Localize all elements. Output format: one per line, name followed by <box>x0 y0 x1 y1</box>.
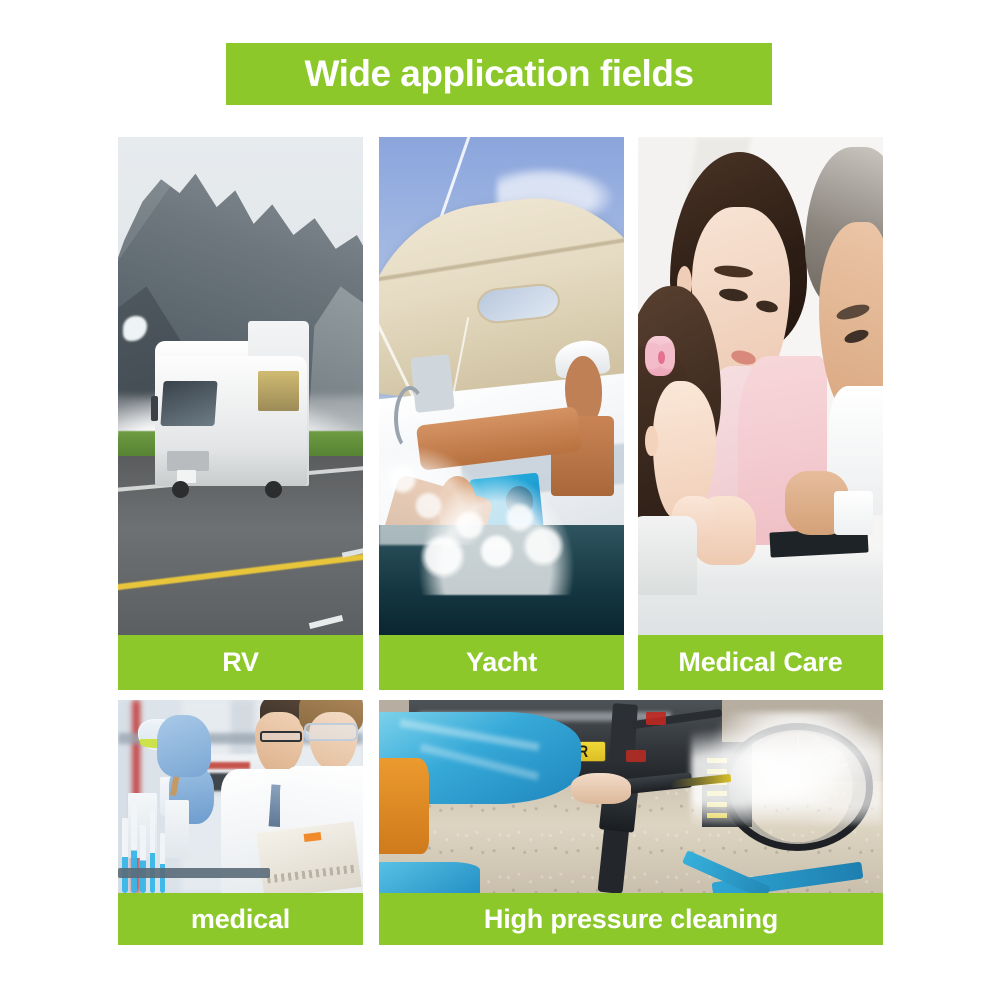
test-tube-rack <box>118 868 270 878</box>
safety-goggles-icon <box>304 723 358 740</box>
white-device <box>638 516 697 596</box>
page-title-banner: Wide application fields <box>226 43 772 105</box>
eyeglasses-icon <box>260 731 302 743</box>
blue-jacket-lower <box>379 862 480 893</box>
motorhome-grille <box>167 451 209 471</box>
family-scene <box>638 137 883 635</box>
shirt-cuff <box>834 491 873 536</box>
yacht-photo <box>379 137 624 635</box>
card-caption-rv: RV <box>118 635 363 690</box>
vehicle-red-light <box>646 712 666 726</box>
test-tube <box>140 825 146 893</box>
application-card-medical[interactable]: medical <box>118 700 363 945</box>
medical-care-photo <box>638 137 883 635</box>
hair-bow-knot <box>658 351 665 364</box>
rv-scene <box>118 137 363 635</box>
test-tube <box>131 804 137 893</box>
orange-garment <box>379 758 429 855</box>
application-card-high-pressure-cleaning[interactable]: GN64 UYR High pressure cleaning <box>379 700 883 945</box>
card-label: Medical Care <box>678 647 842 678</box>
page-title: Wide application fields <box>304 53 693 95</box>
pressure-washing-scene: GN64 UYR <box>379 700 883 893</box>
application-card-medical-care[interactable]: Medical Care <box>638 137 883 690</box>
card-caption-medical-care: Medical Care <box>638 635 883 690</box>
card-label: medical <box>191 904 290 935</box>
girl-ear <box>645 426 657 456</box>
card-label: RV <box>222 647 259 678</box>
motorhome-front-wheel <box>172 481 189 498</box>
high-pressure-cleaning-photo: GN64 UYR <box>379 700 883 893</box>
yacht-scene <box>379 137 624 635</box>
blue-glove-upper-hand <box>157 715 211 777</box>
card-caption-high-pressure-cleaning: High pressure cleaning <box>379 893 883 945</box>
card-caption-yacht: Yacht <box>379 635 624 690</box>
card-label: High pressure cleaning <box>484 904 778 935</box>
rv-photo <box>118 137 363 635</box>
motorhome-windshield <box>161 381 218 426</box>
motorhome-mirror <box>151 396 158 421</box>
motorhome-side-window <box>258 371 300 411</box>
lab-equipment-red-panel <box>206 762 250 770</box>
test-tube <box>122 818 128 893</box>
operator-hand <box>571 773 631 804</box>
test-tube <box>150 810 156 893</box>
water-spray-mist <box>691 712 883 824</box>
medical-lab-photo <box>118 700 363 893</box>
test-tube <box>160 833 166 893</box>
application-card-yacht[interactable]: Yacht <box>379 137 624 690</box>
test-tube-group <box>120 797 203 894</box>
card-label: Yacht <box>466 647 537 678</box>
card-caption-medical: medical <box>118 893 363 945</box>
vehicle-red-reflector <box>626 750 646 762</box>
lab-scene <box>118 700 363 893</box>
water-splash <box>379 436 497 546</box>
application-card-rv[interactable]: RV <box>118 137 363 690</box>
